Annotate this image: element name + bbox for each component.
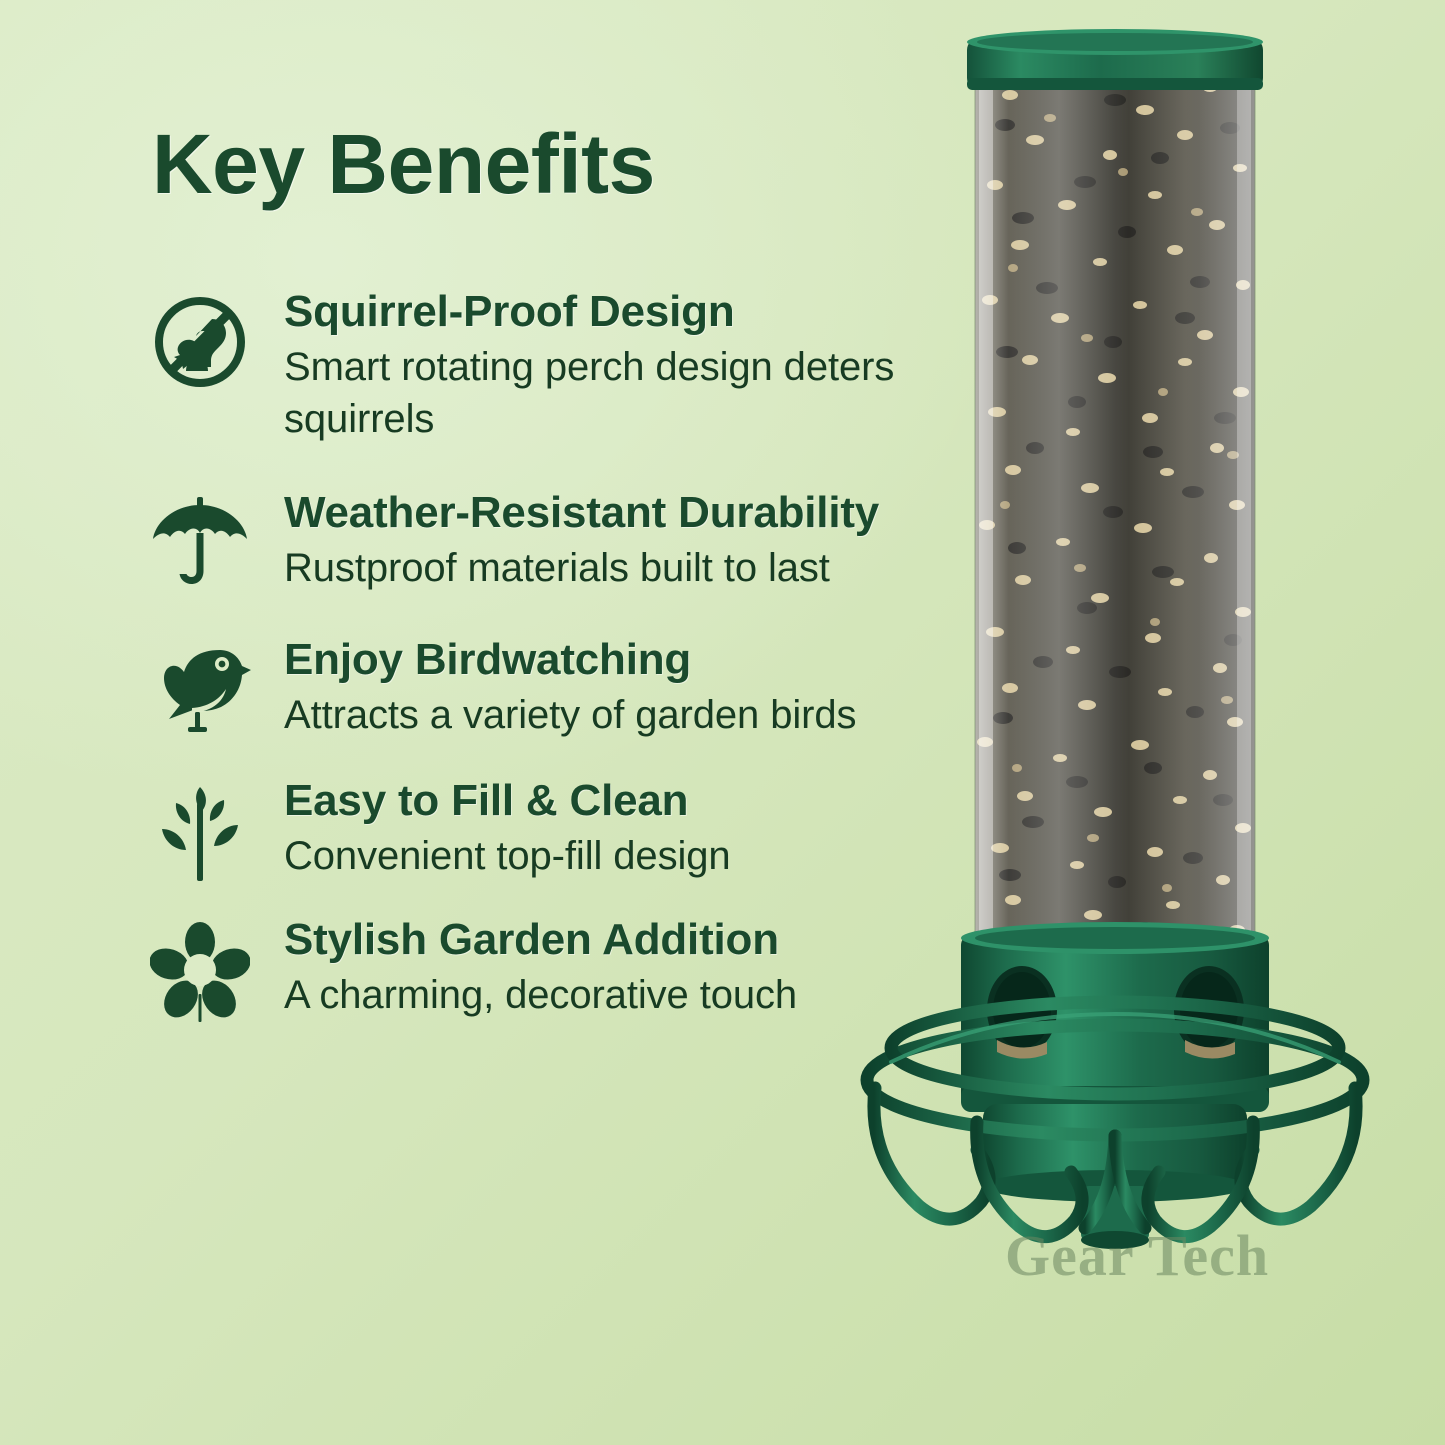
benefit-item-stylish-garden: Stylish Garden Addition A charming, deco… <box>0 914 930 1021</box>
benefit-description: Attracts a variety of garden birds <box>284 689 856 741</box>
benefit-description: Convenient top-fill design <box>284 830 731 882</box>
benefit-item-weather-resistant: Weather-Resistant Durability Rustproof m… <box>0 487 930 594</box>
no-squirrel-icon <box>148 292 252 396</box>
page-title: Key Benefits <box>152 120 655 208</box>
feeder-lid <box>967 29 1263 90</box>
benefits-content-column: Key Benefits Squirrel-P <box>0 0 930 1445</box>
benefit-text-block: Weather-Resistant Durability Rustproof m… <box>284 487 879 594</box>
benefit-text-block: Enjoy Birdwatching Attracts a variety of… <box>284 634 856 741</box>
benefit-title: Squirrel-Proof Design <box>284 286 930 337</box>
benefit-text-block: Stylish Garden Addition A charming, deco… <box>284 914 797 1021</box>
benefit-item-squirrel-proof: Squirrel-Proof Design Smart rotating per… <box>0 286 930 445</box>
benefit-item-birdwatching: Enjoy Birdwatching Attracts a variety of… <box>0 634 930 741</box>
benefit-title: Weather-Resistant Durability <box>284 487 879 538</box>
benefits-list: Squirrel-Proof Design Smart rotating per… <box>0 286 930 1021</box>
product-image-bird-feeder <box>845 0 1445 1290</box>
benefit-text-block: Easy to Fill & Clean Convenient top-fill… <box>284 775 731 882</box>
benefit-description: Smart rotating perch design deters squir… <box>284 341 930 445</box>
benefit-text-block: Squirrel-Proof Design Smart rotating per… <box>284 286 930 445</box>
flower-icon <box>148 920 252 1024</box>
umbrella-icon <box>148 493 252 597</box>
benefit-description: Rustproof materials built to last <box>284 542 879 594</box>
benefit-description: A charming, decorative touch <box>284 969 797 1021</box>
bird-icon <box>148 640 252 744</box>
benefit-item-easy-fill-clean: Easy to Fill & Clean Convenient top-fill… <box>0 775 930 882</box>
infographic-canvas: Key Benefits Squirrel-P <box>0 0 1445 1445</box>
benefit-title: Stylish Garden Addition <box>284 914 797 965</box>
benefit-title: Easy to Fill & Clean <box>284 775 731 826</box>
benefit-title: Enjoy Birdwatching <box>284 634 856 685</box>
plant-sprout-icon <box>148 781 252 885</box>
